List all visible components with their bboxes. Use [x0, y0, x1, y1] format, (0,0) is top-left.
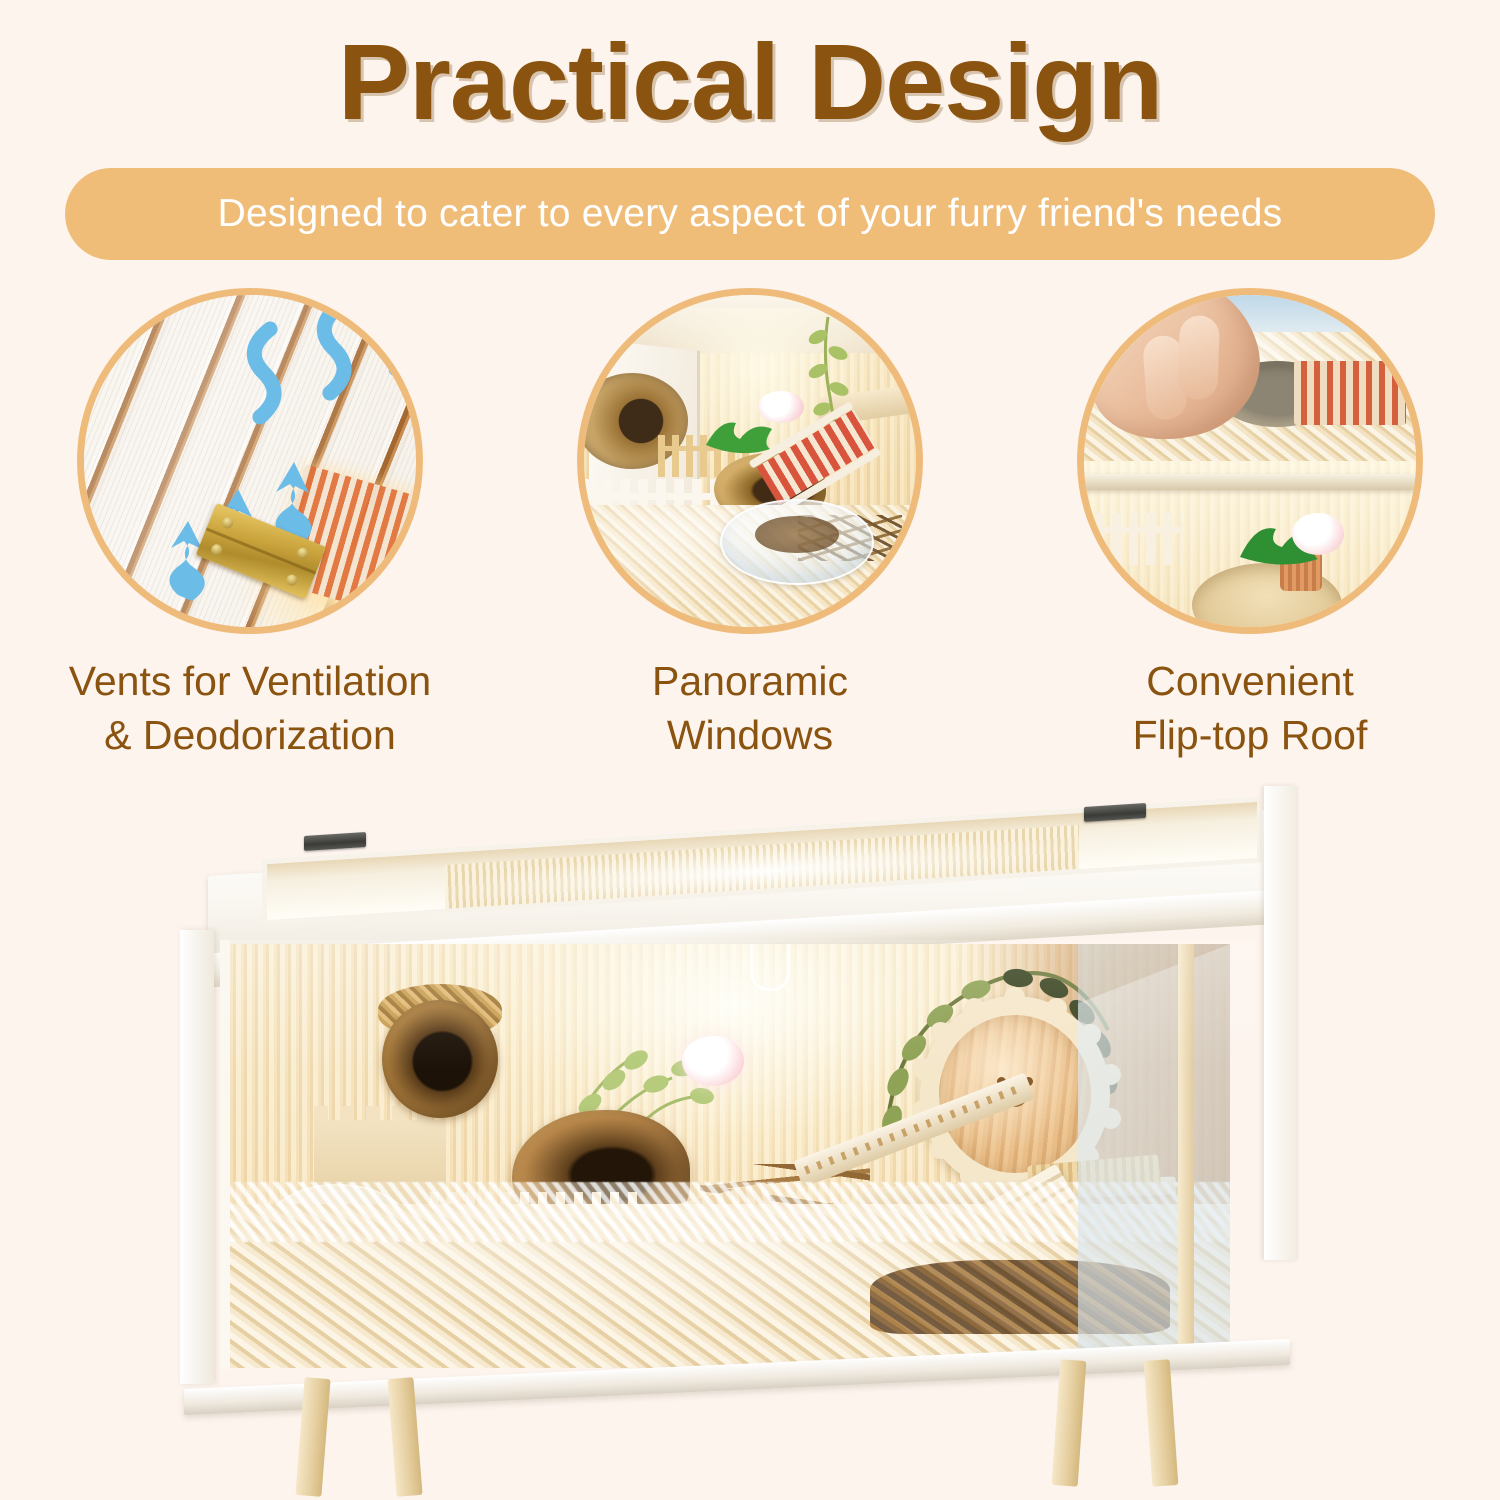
cage-leg — [1052, 1359, 1087, 1487]
feature-panoramic-windows: Panoramic Windows — [535, 288, 965, 762]
feature-label-line2: & Deodorization — [69, 708, 431, 762]
feature-label-line1: Vents for Ventilation — [69, 654, 431, 708]
panoramic-scene — [584, 295, 916, 627]
left-corner-post — [180, 930, 214, 1384]
infographic-page: Practical Design Designed to cater to ev… — [0, 0, 1500, 1500]
screw-icon — [296, 546, 310, 560]
wooden-hamster-cage — [178, 812, 1296, 1412]
white-flower — [1292, 513, 1344, 555]
feature-label-flip-top: Convenient Flip-top Roof — [1133, 654, 1368, 762]
feature-image-panoramic — [577, 288, 923, 634]
screw-icon — [285, 573, 299, 587]
pink-flower — [758, 391, 804, 423]
lid-edge — [1084, 474, 1416, 490]
feature-label-line1: Convenient — [1133, 654, 1368, 708]
airflow-waves-icon — [234, 295, 416, 437]
feature-image-flip-top — [1077, 288, 1423, 634]
cage-body — [194, 940, 1280, 1370]
screw-icon — [220, 516, 234, 530]
feature-image-ventilation — [77, 288, 423, 634]
white-picket-fence — [1084, 513, 1182, 565]
vent-scene — [84, 295, 416, 627]
clear-sand-bath — [720, 499, 874, 585]
feature-label-line2: Windows — [652, 708, 848, 762]
feature-flip-top-roof: Convenient Flip-top Roof — [1035, 288, 1465, 762]
product-photo — [0, 780, 1500, 1500]
feature-label-line1: Panoramic — [652, 654, 848, 708]
red-striped-toy — [1294, 361, 1406, 425]
page-title: Practical Design — [0, 24, 1500, 141]
feature-label-ventilation: Vents for Ventilation & Deodorization — [69, 654, 431, 762]
feature-label-panoramic: Panoramic Windows — [652, 654, 848, 762]
front-acrylic-panel — [220, 940, 1256, 1370]
upper-opened-lid-view — [1084, 295, 1416, 461]
subtitle-text: Designed to cater to every aspect of you… — [218, 192, 1283, 236]
screw-icon — [210, 543, 224, 557]
right-corner-post — [1264, 786, 1298, 1260]
subtitle-pill: Designed to cater to every aspect of you… — [65, 168, 1435, 260]
finger — [1177, 315, 1220, 400]
flip-top-scene — [1084, 295, 1416, 627]
feature-row: Vents for Ventilation & Deodorization — [0, 288, 1500, 778]
feature-ventilation: Vents for Ventilation & Deodorization — [35, 288, 465, 762]
cage-leg — [1144, 1359, 1179, 1487]
feature-label-line2: Flip-top Roof — [1133, 708, 1368, 762]
lid-hinge-left — [304, 832, 366, 851]
